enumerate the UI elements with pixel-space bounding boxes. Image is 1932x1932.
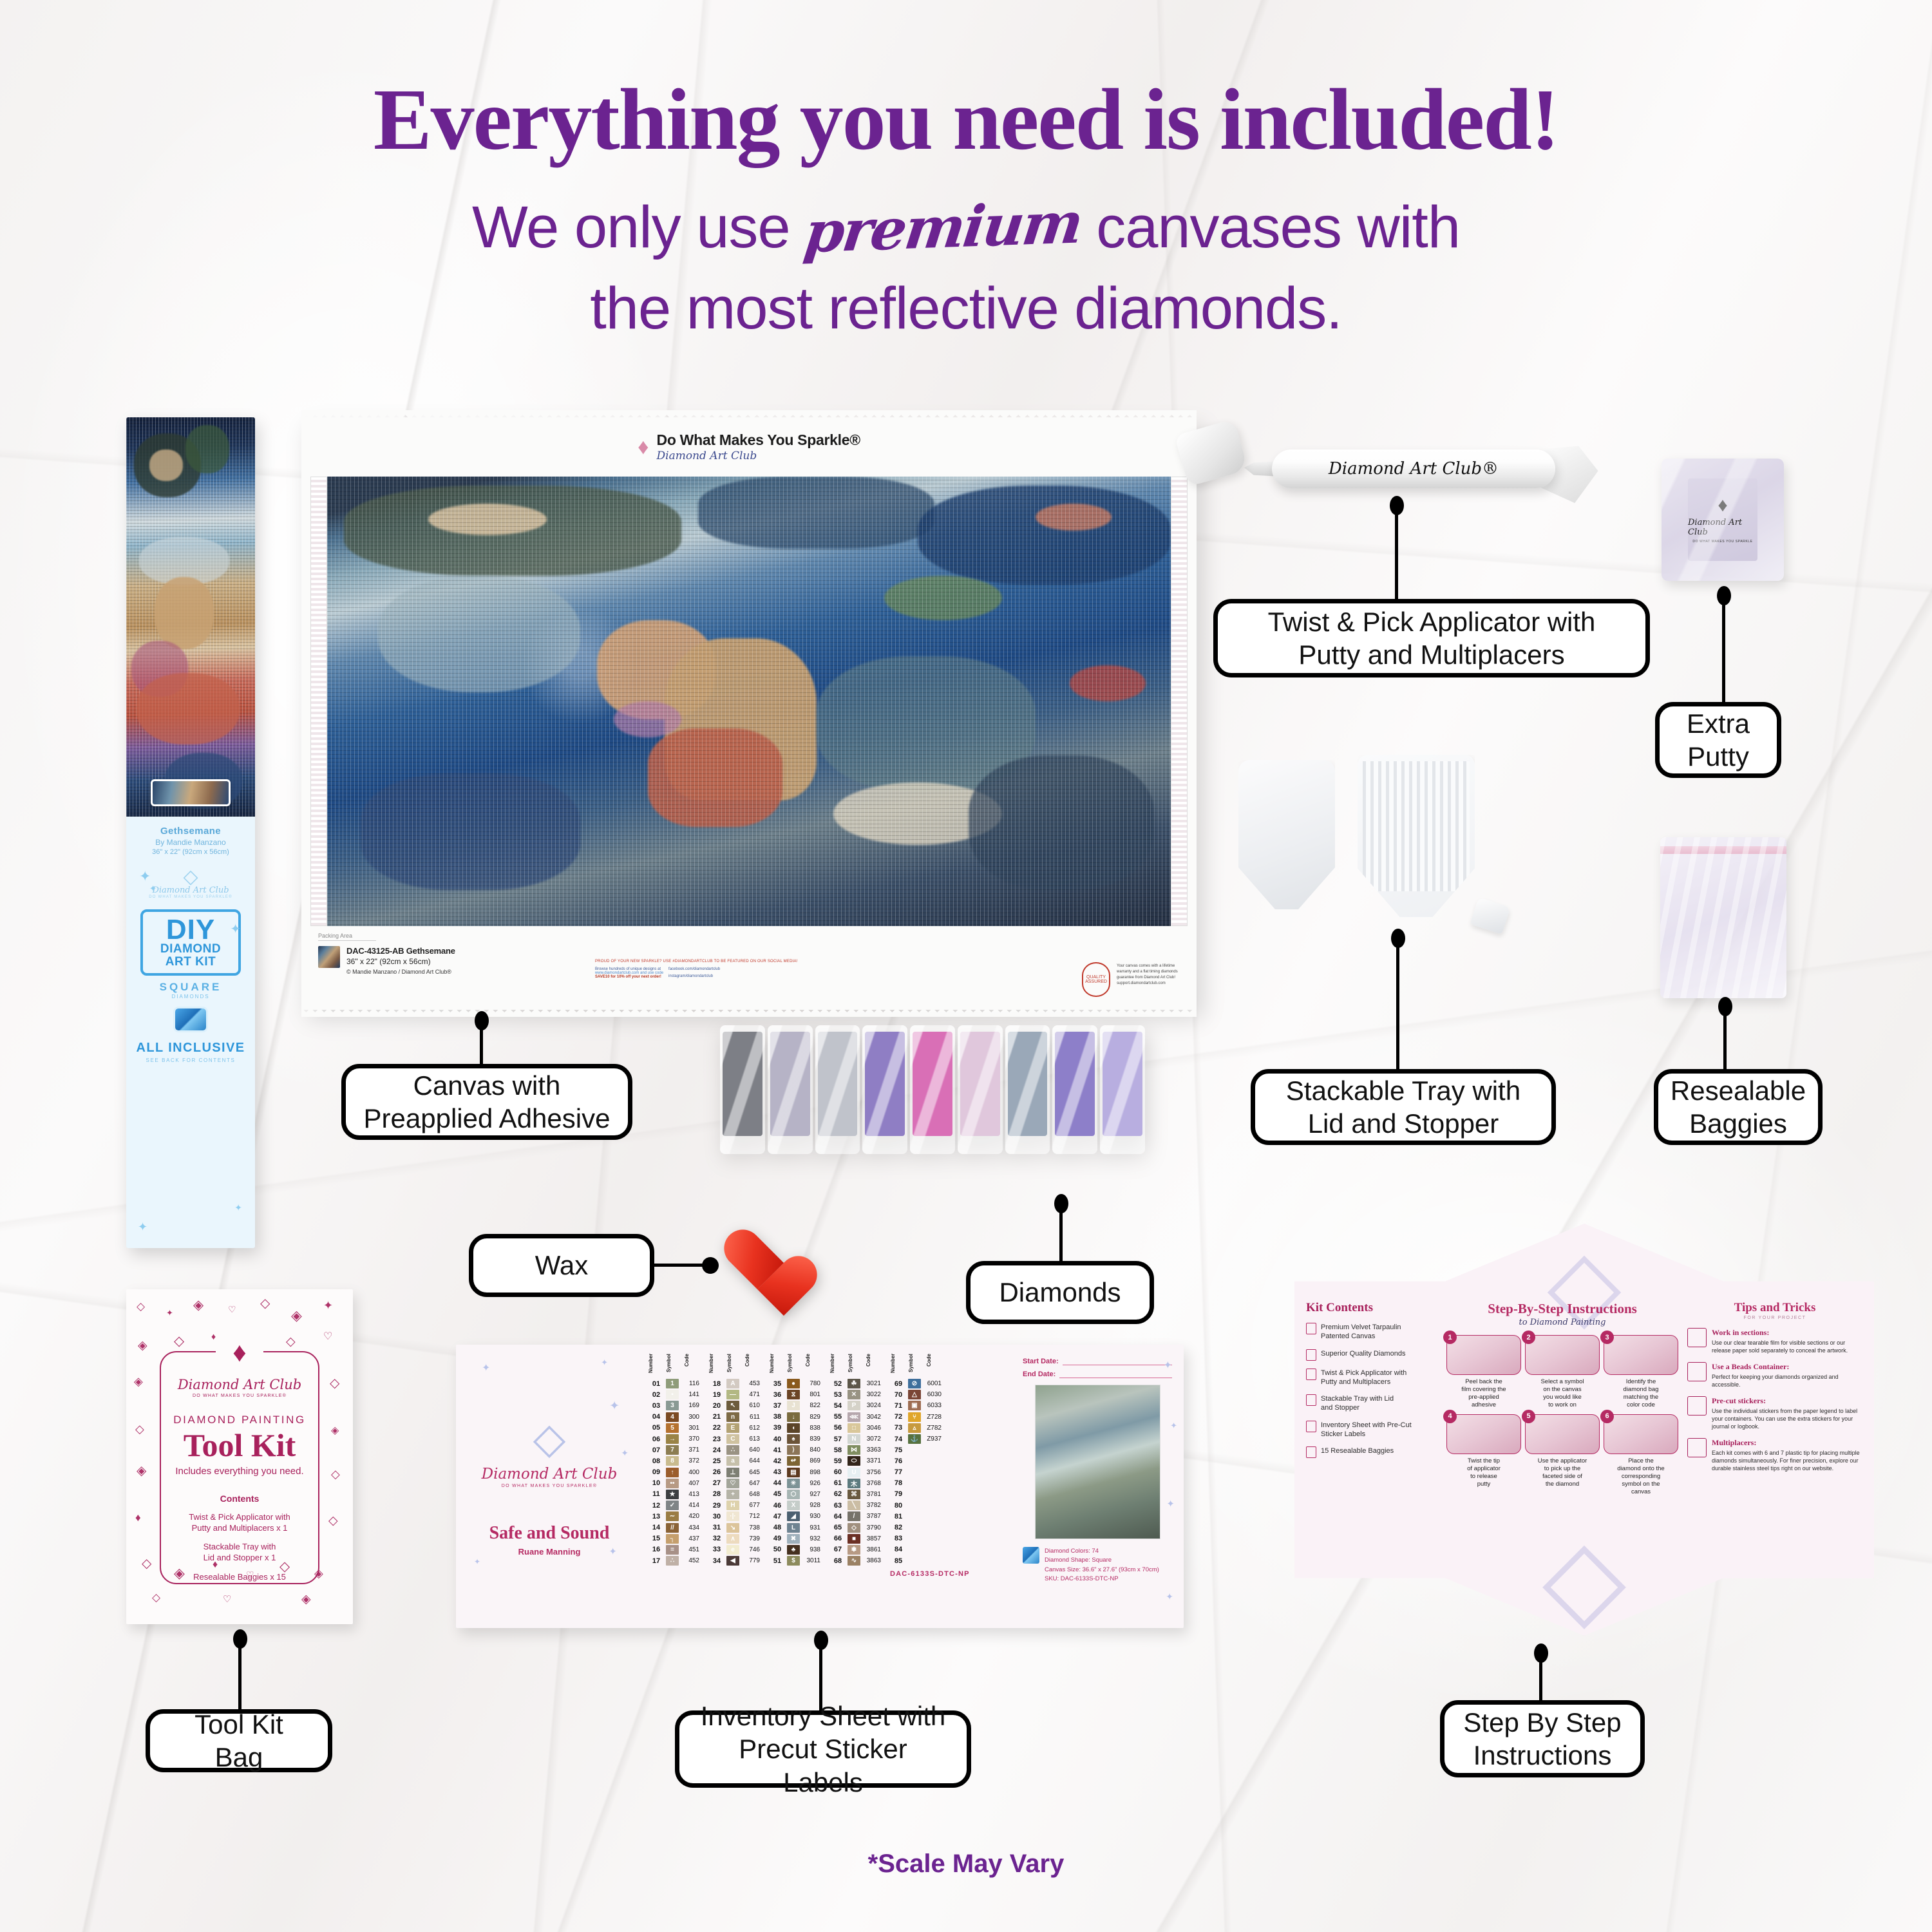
- steps-subtitle: to Diamond Painting: [1446, 1318, 1678, 1327]
- col-header-number: Number: [769, 1354, 786, 1378]
- row-symbol: ∴: [726, 1445, 739, 1455]
- row-number: 66: [829, 1535, 846, 1542]
- inventory-row: 69⊘6001: [890, 1378, 970, 1389]
- inventory-row: 45⬡927: [769, 1489, 822, 1500]
- row-code: 3024: [862, 1402, 881, 1409]
- row-number: 56: [829, 1424, 846, 1432]
- inventory-art-title: Safe and Sound: [489, 1523, 610, 1544]
- leader-line-canvas: [480, 1016, 483, 1069]
- row-number: 60: [829, 1468, 846, 1476]
- row-code: 3756: [862, 1469, 881, 1476]
- canvas-legend-right: [1171, 477, 1188, 926]
- step-image: [1446, 1335, 1521, 1375]
- inventory-row: 24∴640: [708, 1444, 761, 1455]
- canvas-edge-bottom: [301, 1009, 1197, 1017]
- canvas-promo-3: SAVE10 for 10% off your next order!: [595, 975, 663, 979]
- row-number: 84: [890, 1546, 907, 1553]
- product-box-packaging[interactable]: Gethsemane By Mandie Manzano 36" x 22" (…: [126, 417, 255, 1248]
- row-code: 471: [741, 1391, 760, 1398]
- row-code: 3371: [862, 1457, 881, 1464]
- row-number: 62: [829, 1490, 846, 1498]
- row-symbol: 木: [848, 1479, 860, 1488]
- row-number: 51: [769, 1557, 786, 1565]
- row-number: 11: [648, 1490, 665, 1498]
- spec-sku: SKU: DAC-6133S-DTC-NP: [1045, 1575, 1159, 1584]
- baggies-icon: [1306, 1446, 1316, 1458]
- row-number: 34: [708, 1557, 725, 1565]
- row-symbol: C: [726, 1434, 739, 1444]
- row-symbol: △: [908, 1390, 921, 1399]
- row-symbol: 7: [666, 1445, 679, 1455]
- inventory-row: 50♣938: [769, 1544, 822, 1555]
- inventory-row: 70△6030: [890, 1389, 970, 1400]
- canvas-edge-top: [301, 410, 1197, 418]
- subheadline-line-1: We only use premium canvases with: [0, 189, 1932, 267]
- row-number: 08: [648, 1457, 665, 1465]
- row-code: 453: [741, 1380, 760, 1387]
- diamond-icon: ◇: [533, 1417, 566, 1459]
- inventory-row: 36⧖801: [769, 1389, 822, 1400]
- row-symbol: ⬡: [787, 1490, 800, 1499]
- inventory-row: 60U3756: [829, 1467, 882, 1478]
- row-symbol: ∴: [666, 1556, 679, 1566]
- inventory-row: 09↑400: [648, 1467, 701, 1478]
- tip-body: Each kit comes with 6 and 7 plastic tip …: [1712, 1449, 1862, 1472]
- row-code: 613: [741, 1435, 760, 1443]
- row-code: 3787: [862, 1513, 881, 1520]
- row-number: 26: [708, 1468, 725, 1476]
- row-number: 18: [708, 1380, 725, 1388]
- inventory-column-group: NumberSymbolCode 52☘302153✕302254P302455…: [829, 1354, 882, 1623]
- diamond-bag[interactable]: [815, 1025, 860, 1154]
- row-number: 01: [648, 1380, 665, 1388]
- canvas-header: ♦ Do What Makes You Sparkle® Diamond Art…: [301, 417, 1197, 477]
- row-code: 738: [741, 1524, 760, 1531]
- row-code: 611: [741, 1414, 760, 1421]
- row-symbol: ↘: [726, 1523, 739, 1533]
- row-number: 69: [890, 1380, 907, 1388]
- row-number: 80: [890, 1502, 907, 1510]
- canvas-sku-title: DAC-43125-AB Gethsemane: [346, 946, 455, 956]
- inventory-row: 13∼420: [648, 1511, 701, 1522]
- row-symbol: n: [726, 1412, 739, 1422]
- callout-canvas[interactable]: Canvas with Preapplied Adhesive: [341, 1064, 632, 1140]
- step-number: 1: [1443, 1331, 1457, 1344]
- step-caption: Use the applicator to pick up the facete…: [1525, 1457, 1600, 1488]
- row-symbol: ↑: [666, 1468, 679, 1477]
- row-code: 420: [680, 1513, 699, 1520]
- stickers-icon: [1687, 1396, 1707, 1416]
- row-number: 40: [769, 1435, 786, 1443]
- col-header-symbol: Symbol: [908, 1354, 925, 1378]
- inventory-row: 65◇3790: [829, 1522, 882, 1533]
- leader-line-wax: [652, 1264, 714, 1267]
- row-code: 677: [741, 1502, 760, 1509]
- row-number: 77: [890, 1468, 907, 1476]
- row-code: 370: [680, 1435, 699, 1443]
- kit-item: Twist & Pick Applicator with Putty and M…: [1321, 1368, 1406, 1387]
- row-symbol: ❃: [848, 1545, 860, 1555]
- inventory-row: 80: [890, 1500, 970, 1511]
- spec-shape: Diamond Shape: Square: [1045, 1556, 1159, 1565]
- inventory-row: 20↖610: [708, 1400, 761, 1411]
- row-symbol: ·|·: [726, 1511, 739, 1521]
- callout-tool-kit-bag[interactable]: Tool Kit Bag: [146, 1709, 332, 1772]
- end-date-field[interactable]: End Date:: [1023, 1370, 1172, 1378]
- tool-kit-tagline: DO WHAT MAKES YOU SPARKLE®: [167, 1394, 312, 1398]
- row-symbol: X: [787, 1501, 800, 1510]
- row-symbol: ⋈: [848, 1445, 860, 1455]
- inventory-row: 75: [890, 1444, 970, 1455]
- inventory-row: 55⋘3042: [829, 1412, 882, 1423]
- sparkle-icon: ✦: [609, 1399, 620, 1414]
- inventory-row: 73▵Z782: [890, 1423, 970, 1434]
- inventory-rows: 01111602▪14103316904430005530106→3700773…: [648, 1378, 701, 1566]
- inventory-icon: [1306, 1421, 1316, 1432]
- row-number: 85: [890, 1557, 907, 1565]
- leader-line-tray: [1396, 934, 1399, 1074]
- row-code: 927: [801, 1491, 820, 1498]
- row-code: 829: [801, 1414, 820, 1421]
- canvas-header-brand: Diamond Art Club: [657, 450, 860, 462]
- start-date-field[interactable]: Start Date:: [1023, 1358, 1172, 1365]
- col-header-symbol: Symbol: [726, 1354, 743, 1378]
- row-number: 22: [708, 1424, 725, 1432]
- premium-script-word: premium: [800, 186, 1086, 269]
- tips-title: Tips and Tricks: [1687, 1301, 1862, 1315]
- row-code: 3046: [862, 1425, 881, 1432]
- step-number: 5: [1522, 1410, 1535, 1423]
- tips-subtitle: FOR YOUR PROJECT: [1687, 1316, 1862, 1320]
- inventory-artist: Ruane Manning: [518, 1547, 581, 1557]
- row-code: 739: [741, 1535, 760, 1542]
- row-number: 38: [769, 1413, 786, 1421]
- row-number: 50: [769, 1546, 786, 1553]
- sparkle-icon: ✦: [1170, 1421, 1177, 1431]
- extra-putty-bag[interactable]: ♦ Diamond Art Club DO WHAT MAKES YOU SPA…: [1662, 459, 1784, 581]
- inventory-row: 044300: [648, 1412, 701, 1423]
- callout-resealable-baggies[interactable]: Resealable Baggies: [1654, 1069, 1823, 1145]
- canvas-copyright: © Mandie Manzano / Diamond Art Club®: [346, 969, 455, 975]
- row-symbol: ✖: [787, 1534, 800, 1544]
- inventory-column-group: NumberSymbolCode 18A45319—47120↖61021n61…: [708, 1354, 761, 1623]
- end-date-label: End Date:: [1023, 1370, 1056, 1378]
- row-code: 3781: [862, 1491, 881, 1498]
- inventory-row: 77: [890, 1467, 970, 1478]
- inventory-row: 10••407: [648, 1478, 701, 1489]
- row-number: 05: [648, 1424, 665, 1432]
- resealable-baggies-stack[interactable]: [1660, 837, 1786, 998]
- row-number: 12: [648, 1502, 665, 1510]
- diamond-shape-label: SQUARE: [133, 981, 249, 994]
- row-code: 780: [801, 1380, 820, 1387]
- diamond-bag[interactable]: [910, 1025, 955, 1154]
- row-symbol: ⋘: [848, 1412, 860, 1422]
- leader-line-tool-kit: [238, 1634, 241, 1713]
- applicator-pen[interactable]: Diamond Art Club®: [1272, 450, 1555, 488]
- canvas-header-title: Do What Makes You Sparkle®: [657, 431, 860, 449]
- instruction-step: 5 Use the applicator to pick up the face…: [1525, 1414, 1600, 1496]
- row-symbol: 3: [666, 1401, 679, 1410]
- row-number: 20: [708, 1402, 725, 1410]
- inventory-row: 48L931: [769, 1522, 822, 1533]
- row-code: 3768: [862, 1480, 881, 1487]
- row-number: 02: [648, 1391, 665, 1399]
- inventory-rows: 52☘302153✕302254P302455⋘304256□304657N30…: [829, 1378, 882, 1566]
- see-back-label: SEE BACK FOR CONTENTS: [133, 1057, 249, 1063]
- tool-kit-content-item: Twist & Pick Applicator with Putty and M…: [167, 1512, 312, 1533]
- row-symbol: ▣: [908, 1401, 921, 1410]
- step-caption: Identify the diamond bag matching the co…: [1604, 1378, 1678, 1409]
- inventory-row: 055301: [648, 1423, 701, 1434]
- callout-inventory-sheet[interactable]: Inventory Sheet with Precut Sticker Labe…: [675, 1710, 971, 1788]
- row-code: 3021: [862, 1380, 881, 1387]
- canvas-social-block: PROUD OF YOUR NEW SPARKLE? USE #DIAMONDA…: [595, 960, 798, 979]
- row-code: 610: [741, 1402, 760, 1409]
- quality-seal-icon: QUALITY ASSURED: [1082, 962, 1110, 997]
- row-number: 07: [648, 1446, 665, 1454]
- row-symbol: 8: [666, 1456, 679, 1466]
- tool-kit-bag[interactable]: ◇ ✦ ◈ ♡ ◇ ◈ ✦ ◈ ◇ ♦ ◇ ♡ ◈ ◇ ◇ ◈ ◈ ◇ ♦ ◇ …: [126, 1289, 353, 1624]
- kit-contents-title: Kit Contents: [1306, 1301, 1437, 1315]
- diamond-bag[interactable]: [768, 1025, 813, 1154]
- row-code: 452: [680, 1557, 699, 1564]
- callout-wax[interactable]: Wax: [469, 1234, 654, 1297]
- row-symbol: U: [848, 1468, 860, 1477]
- inventory-row: 76: [890, 1455, 970, 1466]
- start-date-input[interactable]: [1063, 1358, 1172, 1365]
- tool-kit-title: Tool Kit: [167, 1429, 312, 1462]
- row-number: 76: [890, 1457, 907, 1465]
- inventory-row: 53✕3022: [829, 1389, 882, 1400]
- row-number: 35: [769, 1380, 786, 1388]
- inventory-row: 51$3011: [769, 1555, 822, 1566]
- multiplacer-icon: [1687, 1438, 1707, 1457]
- col-header-code: Code: [805, 1354, 822, 1378]
- row-symbol: =: [666, 1545, 679, 1555]
- leader-line-extra-putty: [1722, 591, 1725, 707]
- tip-body: Use our clear tearable film for visible …: [1712, 1339, 1862, 1354]
- step-number: 4: [1443, 1410, 1457, 1423]
- row-number: 06: [648, 1435, 665, 1443]
- row-symbol: —: [726, 1390, 739, 1399]
- subheadline-text-a: We only use: [472, 194, 790, 260]
- inventory-row: 43▤898: [769, 1467, 822, 1478]
- row-code: 712: [741, 1513, 760, 1520]
- inventory-brand: Diamond Art Club: [482, 1466, 618, 1482]
- inventory-row: 59⬭3371: [829, 1455, 882, 1466]
- tip-head: Pre-cut stickers:: [1712, 1396, 1862, 1406]
- row-symbol: +: [726, 1490, 739, 1499]
- wax-heart[interactable]: [723, 1231, 795, 1298]
- row-code: 3363: [862, 1446, 881, 1454]
- row-code: 301: [680, 1425, 699, 1432]
- canvas-facebook-link[interactable]: facebook.com/diamondartclub: [668, 967, 720, 971]
- row-number: 24: [708, 1446, 725, 1454]
- row-symbol: ▵: [908, 1423, 921, 1433]
- row-code: 746: [741, 1546, 760, 1553]
- callout-stackable-tray[interactable]: Stackable Tray with Lid and Stopper: [1251, 1069, 1556, 1145]
- inventory-row: 61木3768: [829, 1478, 882, 1489]
- tray-icon: [1306, 1394, 1316, 1406]
- diamond-icon: ♦: [1718, 496, 1727, 515]
- diamond-painting-canvas[interactable]: ♦ Do What Makes You Sparkle® Diamond Art…: [301, 417, 1197, 1010]
- instruction-step: 1 Peel back the film covering the pre-ap…: [1446, 1335, 1521, 1409]
- row-number: 52: [829, 1380, 846, 1388]
- row-number: 04: [648, 1413, 665, 1421]
- inventory-cover-panel: ✦ ✦ ✦ ✦ ✦ ✦ ◇ Diamond Art Club DO WHAT M…: [456, 1345, 643, 1628]
- sparkle-icon: ✦: [474, 1557, 480, 1566]
- col-header-code: Code: [926, 1354, 943, 1378]
- row-code: 141: [680, 1391, 699, 1398]
- inventory-row: 34◀779: [708, 1555, 761, 1566]
- row-code: 3857: [862, 1535, 881, 1542]
- row-symbol: ⚓: [908, 1434, 921, 1444]
- row-code: 640: [741, 1446, 760, 1454]
- row-number: 46: [769, 1502, 786, 1510]
- row-number: 28: [708, 1490, 725, 1498]
- row-number: 78: [890, 1479, 907, 1487]
- row-number: 42: [769, 1457, 786, 1465]
- sparkle-icon: ✦: [234, 1202, 242, 1213]
- row-code: 898: [801, 1469, 820, 1476]
- row-symbol: ♡: [726, 1479, 739, 1488]
- canvas-footer: Packing Area DAC-43125-AB Gethsemane 36"…: [310, 926, 1188, 1010]
- diamond-bag[interactable]: [1100, 1025, 1145, 1154]
- product-size: 36" x 22" (92cm x 56cm): [133, 848, 249, 856]
- row-number: 82: [890, 1524, 907, 1531]
- inventory-row: 37J822: [769, 1400, 822, 1411]
- row-number: 43: [769, 1468, 786, 1476]
- inventory-row: 67❃3861: [829, 1544, 882, 1555]
- col-header-symbol: Symbol: [848, 1354, 864, 1378]
- inventory-row: 40♠839: [769, 1434, 822, 1444]
- row-number: 19: [708, 1391, 725, 1399]
- tip-item: Multiplacers:Each kit comes with 6 and 7…: [1687, 1438, 1862, 1472]
- inventory-row: 56□3046: [829, 1423, 882, 1434]
- row-number: 73: [890, 1424, 907, 1432]
- inventory-row: 11★413: [648, 1489, 701, 1500]
- inventory-sku: DAC-6133S-DTC-NP: [890, 1570, 970, 1578]
- row-symbol: /: [848, 1511, 860, 1521]
- inventory-row: 23C613: [708, 1434, 761, 1444]
- diamonds-icon: [1306, 1349, 1316, 1361]
- row-number: 33: [708, 1546, 725, 1553]
- inventory-row: 088372: [648, 1455, 701, 1466]
- inventory-row: 33e746: [708, 1544, 761, 1555]
- product-artist: By Mandie Manzano: [133, 838, 249, 847]
- inventory-row: 011116: [648, 1378, 701, 1389]
- headline-block: Everything you need is included! We only…: [0, 76, 1932, 347]
- callout-step-by-step[interactable]: Step By Step Instructions: [1440, 1700, 1645, 1777]
- row-symbol: ✳: [787, 1479, 800, 1488]
- diamond-bag[interactable]: [1005, 1025, 1050, 1154]
- tip-head: Use a Beads Container:: [1712, 1362, 1862, 1372]
- inventory-row: 18A453: [708, 1378, 761, 1389]
- inventory-row: 46X928: [769, 1500, 822, 1511]
- row-number: 75: [890, 1446, 907, 1454]
- row-number: 54: [829, 1402, 846, 1410]
- callout-extra-putty[interactable]: Extra Putty: [1655, 702, 1781, 778]
- diamond-bag[interactable]: [862, 1025, 907, 1154]
- row-symbol: P: [848, 1401, 860, 1410]
- row-symbol: J: [787, 1401, 800, 1410]
- canvas-guarantee-note: Your canvas comes with a lifetime warran…: [1117, 963, 1181, 987]
- row-number: 58: [829, 1446, 846, 1454]
- end-date-input[interactable]: [1059, 1370, 1172, 1378]
- callout-applicator[interactable]: Twist & Pick Applicator with Putty and M…: [1213, 599, 1650, 677]
- step-by-step-instructions-sheet[interactable]: ◇ ◇ Kit Contents Premium Velvet Tarpauli…: [1294, 1224, 1874, 1636]
- square-diamond-icon: [1023, 1547, 1039, 1564]
- row-code: 451: [680, 1546, 699, 1553]
- inventory-row: 16=451: [648, 1544, 701, 1555]
- col-header-number: Number: [648, 1354, 665, 1378]
- row-number: 68: [829, 1557, 846, 1565]
- kit-item: Inventory Sheet with Pre-Cut Sticker Lab…: [1321, 1421, 1412, 1439]
- diamond-bag[interactable]: [958, 1025, 1003, 1154]
- callout-diamonds[interactable]: Diamonds: [966, 1261, 1154, 1324]
- square-diamond-icon: [175, 1009, 206, 1030]
- inventory-row: 72⑂Z728: [890, 1412, 970, 1423]
- leader-line-applicator: [1395, 501, 1398, 604]
- canvas-icon: [1306, 1323, 1316, 1334]
- row-code: 928: [801, 1502, 820, 1509]
- row-code: 938: [801, 1546, 820, 1553]
- row-code: 407: [680, 1480, 699, 1487]
- inventory-row: 06→370: [648, 1434, 701, 1444]
- diy-label: DIY: [146, 917, 236, 943]
- beads-container-icon: [1687, 1362, 1707, 1381]
- row-number: 57: [829, 1435, 846, 1443]
- row-number: 48: [769, 1524, 786, 1531]
- row-code: 645: [741, 1469, 760, 1476]
- row-number: 39: [769, 1424, 786, 1432]
- tip-body: Use the individual stickers from the pap…: [1712, 1407, 1862, 1430]
- row-code: 932: [801, 1535, 820, 1542]
- row-symbol: ⊥: [726, 1468, 739, 1477]
- canvas-instagram-link[interactable]: instagram/diamondartclub: [668, 974, 720, 978]
- inventory-row: 42↫869: [769, 1455, 822, 1466]
- inventory-sheet[interactable]: ✦ ✦ ✦ ✦ ✦ ✦ ◇ Diamond Art Club DO WHAT M…: [456, 1345, 1184, 1628]
- row-symbol: 1: [666, 1379, 679, 1388]
- diamond-bag[interactable]: [1052, 1025, 1097, 1154]
- row-code: 400: [680, 1469, 699, 1476]
- row-code: 437: [680, 1535, 699, 1542]
- row-code: 3042: [862, 1414, 881, 1421]
- step-number: 2: [1522, 1331, 1535, 1344]
- inventory-specs: Diamond Colors: 74 Diamond Shape: Square…: [1023, 1547, 1172, 1584]
- row-symbol: $: [787, 1556, 800, 1566]
- leader-line-diamonds: [1059, 1199, 1063, 1265]
- putty-tagline-label: DO WHAT MAKES YOU SPARKLE: [1692, 540, 1752, 544]
- spec-size: Canvas Size: 36.6" x 27.6" (93cm x 70cm): [1045, 1566, 1159, 1575]
- row-number: 29: [708, 1502, 725, 1510]
- row-number: 25: [708, 1457, 725, 1465]
- row-code: Z728: [922, 1414, 942, 1421]
- row-number: 49: [769, 1535, 786, 1542]
- canvas-size: 36" x 22" (92cm x 56cm): [346, 957, 455, 966]
- inventory-row: 71▣6033: [890, 1400, 970, 1411]
- step-caption: Twist the tip of applicator to release p…: [1446, 1457, 1521, 1488]
- inventory-row: 31↘738: [708, 1522, 761, 1533]
- row-code: Z782: [922, 1425, 942, 1432]
- inventory-row: 81: [890, 1511, 970, 1522]
- diamond-bag[interactable]: [720, 1025, 765, 1154]
- diamond-icon: ♦: [638, 435, 649, 460]
- diamond-bags-group[interactable]: [720, 1025, 1145, 1154]
- row-number: 13: [648, 1513, 665, 1520]
- inventory-row: 033169: [648, 1400, 701, 1411]
